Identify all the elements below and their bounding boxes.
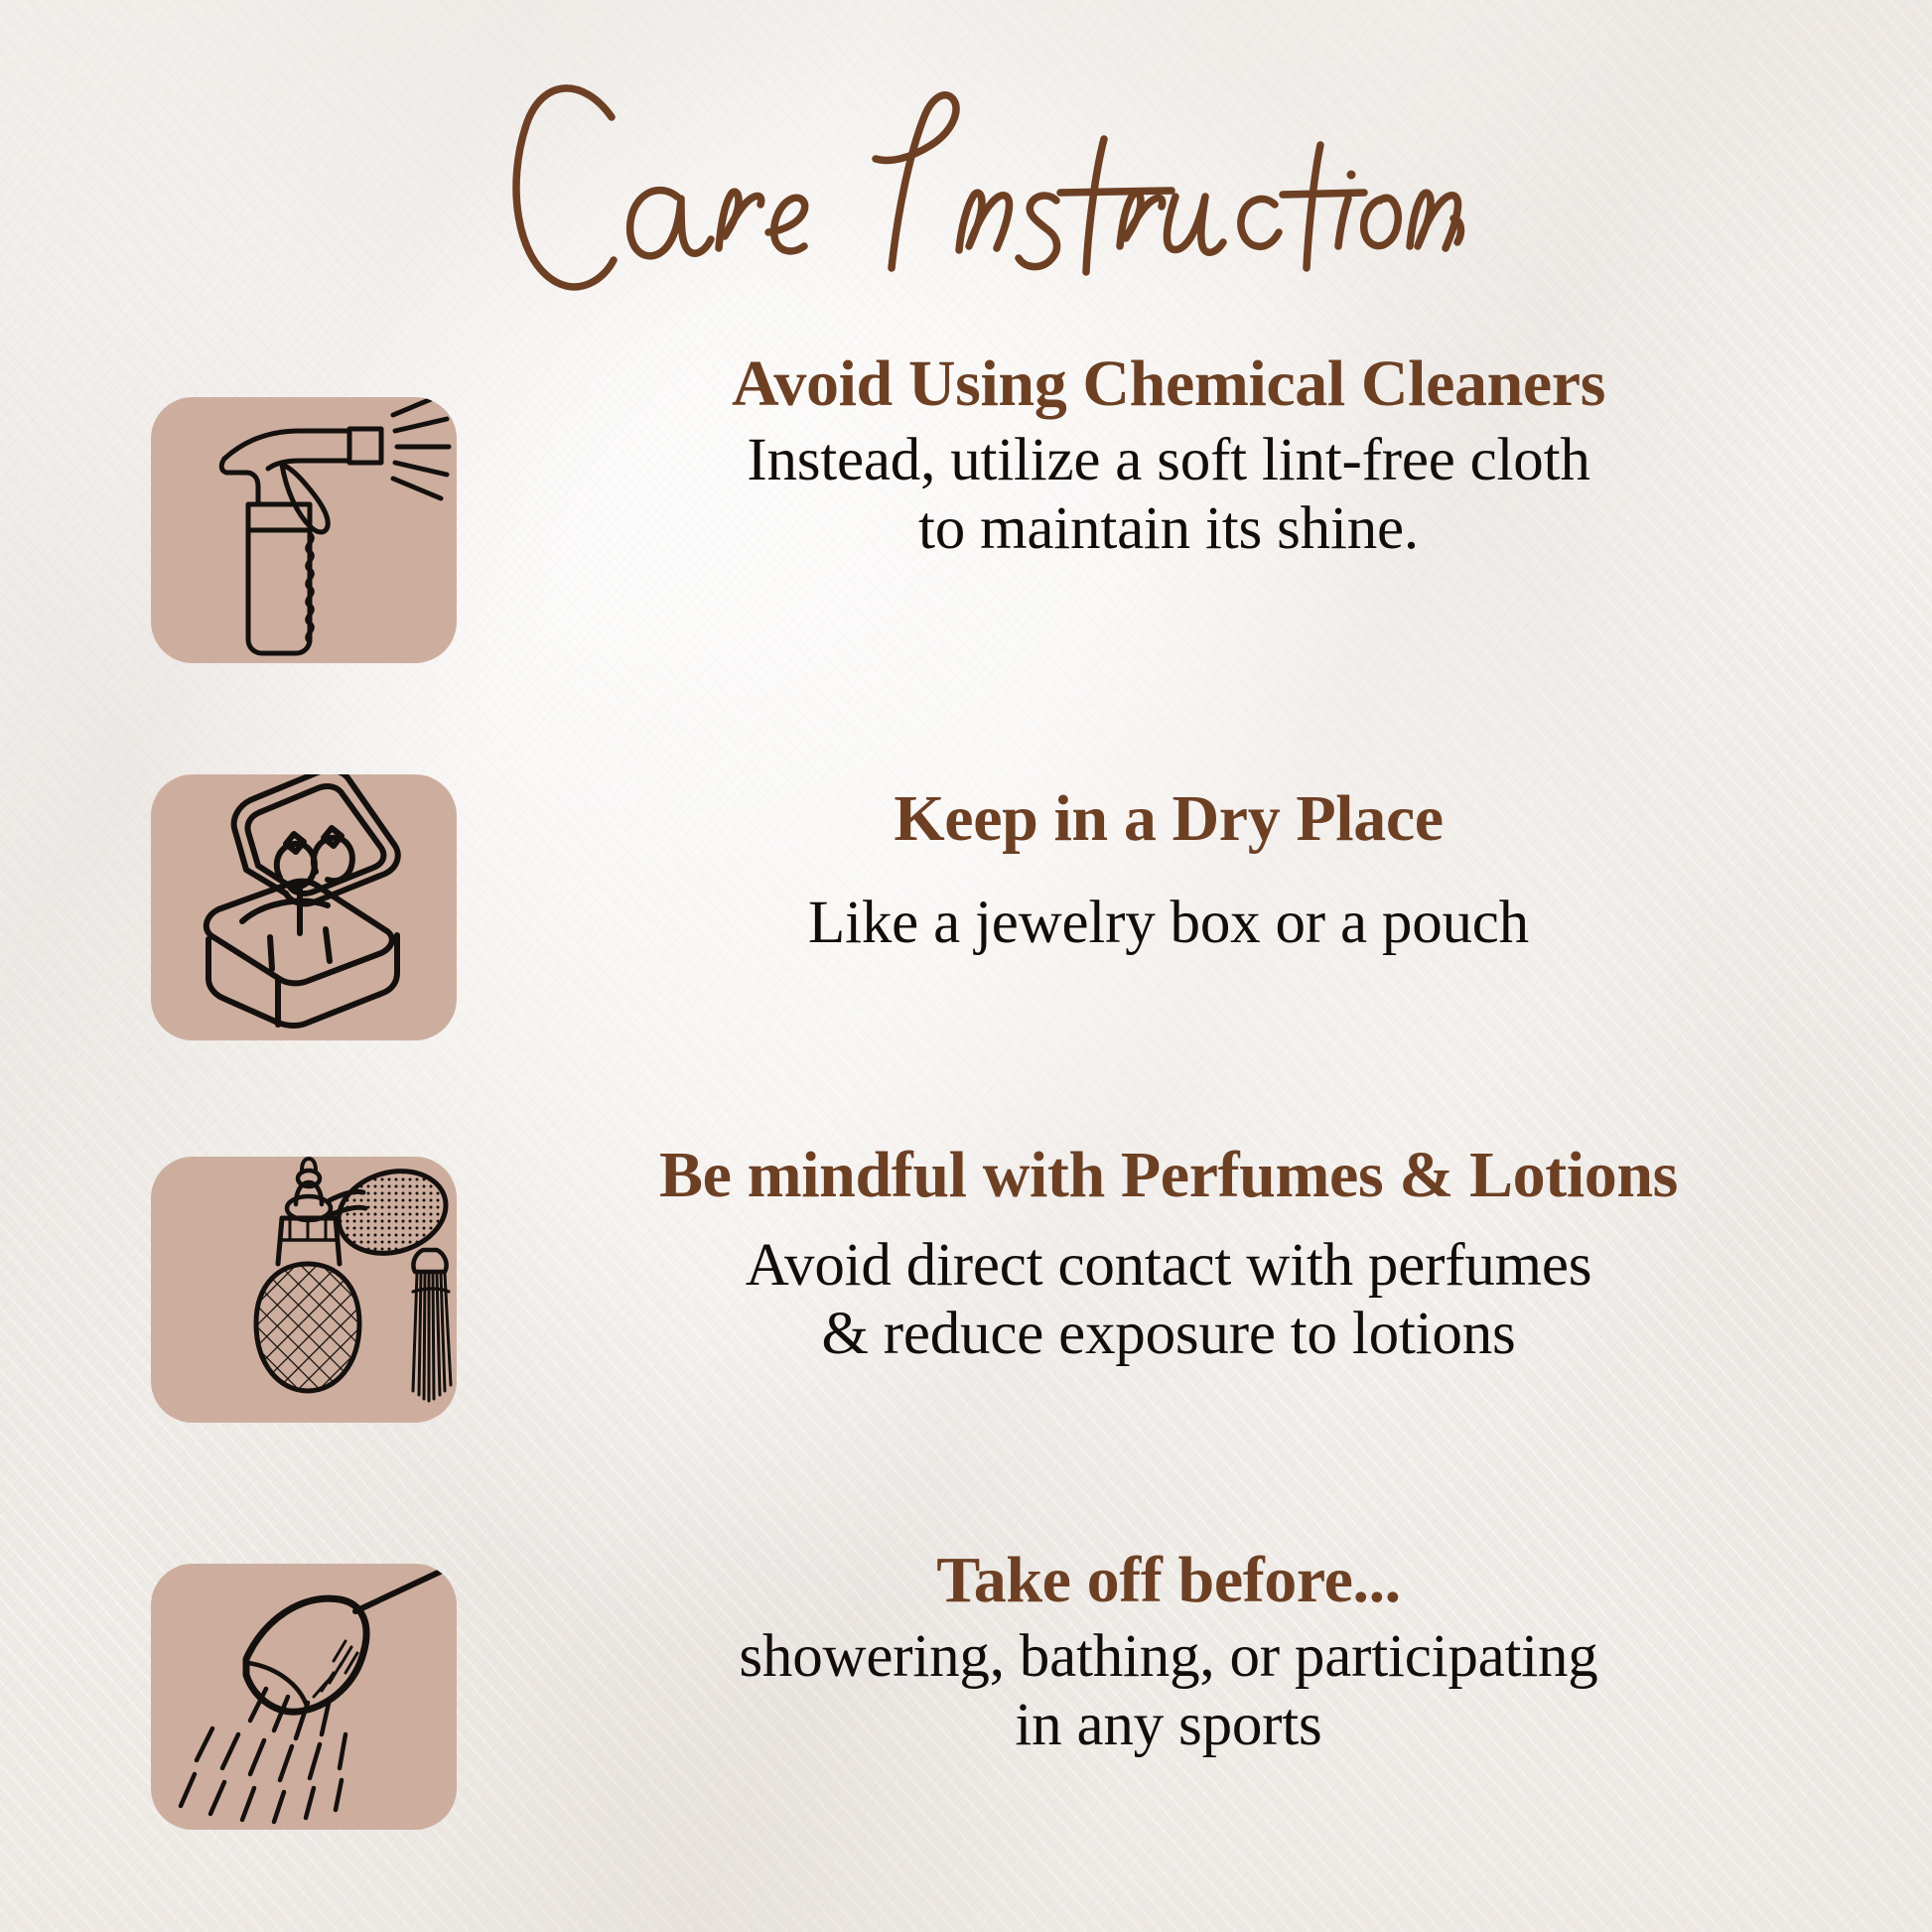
care-item-heading: Be mindful with Perfumes & Lotions bbox=[475, 1141, 1863, 1211]
spray-bottle-icon-tile bbox=[151, 397, 457, 663]
care-instructions-page: Avoid Using Chemical Cleaners Instead, u… bbox=[0, 0, 1932, 1932]
page-title-script-art bbox=[465, 48, 1467, 311]
care-item-body: Avoid direct contact with perfumes & red… bbox=[475, 1231, 1863, 1369]
shower-head-icon bbox=[151, 1564, 457, 1830]
perfume-atomizer-icon-tile bbox=[151, 1157, 457, 1423]
perfume-atomizer-icon bbox=[151, 1157, 457, 1423]
care-item-heading: Avoid Using Chemical Cleaners bbox=[475, 349, 1863, 420]
care-item-body-line: Instead, utilize a soft lint-free cloth bbox=[475, 426, 1863, 495]
care-item-row: Be mindful with Perfumes & Lotions Avoid… bbox=[0, 1157, 1932, 1423]
care-item-text: Keep in a Dry Place Like a jewelry box o… bbox=[457, 784, 1932, 957]
care-item-body: showering, bathing, or participating in … bbox=[475, 1622, 1863, 1760]
care-item-text: Be mindful with Perfumes & Lotions Avoid… bbox=[457, 1141, 1932, 1369]
care-item-row: Take off before... showering, bathing, o… bbox=[0, 1564, 1932, 1830]
care-item-row: Keep in a Dry Place Like a jewelry box o… bbox=[0, 774, 1932, 1040]
page-title bbox=[0, 48, 1932, 311]
care-item-text: Avoid Using Chemical Cleaners Instead, u… bbox=[457, 349, 1932, 564]
care-item-heading: Keep in a Dry Place bbox=[475, 784, 1863, 855]
care-item-body-line: Like a jewelry box or a pouch bbox=[475, 889, 1863, 958]
jewelry-box-icon bbox=[151, 774, 457, 1040]
shower-head-icon-tile bbox=[151, 1564, 457, 1830]
care-item-row: Avoid Using Chemical Cleaners Instead, u… bbox=[0, 397, 1932, 663]
care-item-body: Like a jewelry box or a pouch bbox=[475, 889, 1863, 958]
care-item-body-line: & reduce exposure to lotions bbox=[475, 1300, 1863, 1369]
spray-bottle-icon bbox=[151, 397, 457, 663]
care-item-body-line: Avoid direct contact with perfumes bbox=[475, 1231, 1863, 1301]
care-item-body: Instead, utilize a soft lint-free cloth … bbox=[475, 426, 1863, 564]
care-item-body-line: showering, bathing, or participating bbox=[475, 1622, 1863, 1692]
care-item-body-line: to maintain its shine. bbox=[475, 494, 1863, 564]
care-item-body-line: in any sports bbox=[475, 1691, 1863, 1760]
jewelry-box-icon-tile bbox=[151, 774, 457, 1040]
care-item-text: Take off before... showering, bathing, o… bbox=[457, 1546, 1932, 1760]
care-item-heading: Take off before... bbox=[475, 1546, 1863, 1616]
